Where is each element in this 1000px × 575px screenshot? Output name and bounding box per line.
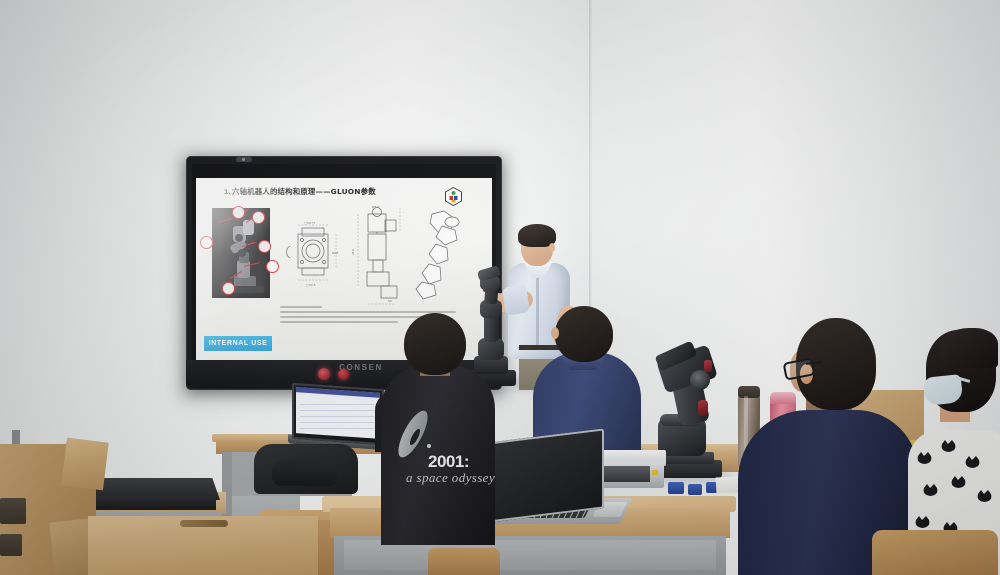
spreadsheet-row xyxy=(300,416,374,417)
slide-callout-1 xyxy=(200,236,213,249)
slide-callout-5 xyxy=(266,260,279,273)
webcam-lens-icon xyxy=(242,158,245,161)
svg-text:Ø8.5: Ø8.5 xyxy=(372,204,379,209)
presenter-right-sleeve xyxy=(502,284,530,315)
svg-text:50: 50 xyxy=(388,299,392,303)
cad-iso-view xyxy=(408,208,474,302)
box-handle-cutout xyxy=(180,520,228,527)
backpack-pocket xyxy=(272,460,338,486)
spreadsheet-row xyxy=(300,404,374,405)
blue-connector xyxy=(668,482,684,494)
status-led-left xyxy=(318,368,330,380)
spreadsheet-row xyxy=(300,428,374,429)
spreadsheet-row xyxy=(300,410,374,411)
controller-led xyxy=(652,470,658,475)
camera-rig-accent xyxy=(698,400,708,416)
presenter-ear xyxy=(549,243,555,252)
svg-text:□50 h7: □50 h7 xyxy=(304,221,316,225)
cardboard-box-flap xyxy=(61,438,109,491)
student-a-head xyxy=(404,313,466,375)
box-label xyxy=(0,534,22,556)
svg-text:□34.5: □34.5 xyxy=(306,283,316,287)
wooden-chair-right[interactable] xyxy=(872,530,998,575)
student-b-head xyxy=(555,306,613,362)
camera-accent xyxy=(704,360,712,372)
slide-callout-6 xyxy=(222,282,235,295)
classroom-scene: 1、 六轴机器人的结构和原理——GLUON参数 xyxy=(0,0,1000,575)
slide-callout-3 xyxy=(252,211,265,224)
tshirt-text-primary: 2001: xyxy=(428,452,486,471)
tshirt-graphic-dot xyxy=(427,444,431,448)
student-b-ear xyxy=(551,327,559,339)
student-d-hair-front xyxy=(940,328,998,368)
slide-title: 六轴机器人的结构和原理——GLUON参数 xyxy=(232,186,462,200)
spreadsheet-row xyxy=(300,422,374,423)
hexagon-badge-logo xyxy=(445,187,462,206)
slide-callout-2 xyxy=(232,206,245,219)
shirt-placket xyxy=(536,272,539,348)
box-label xyxy=(0,498,26,524)
thermos-cap xyxy=(738,386,760,398)
svg-text:Ø28: Ø28 xyxy=(332,250,338,255)
tshirt-text-secondary: a space odyssey xyxy=(406,470,502,486)
wooden-chair-center[interactable] xyxy=(428,548,500,575)
svg-text:210: 210 xyxy=(351,249,355,255)
monitor-panel-base xyxy=(96,496,216,510)
cad-top-view: □50 h7□34.5 Ø28 xyxy=(282,220,344,298)
internal-use-badge: INTERNAL USE xyxy=(204,336,272,351)
camera-lens-icon xyxy=(690,370,710,390)
cad-front-view: 210 Ø8.550 xyxy=(348,204,408,308)
slide-callout-4 xyxy=(258,240,271,253)
status-led-right xyxy=(338,369,349,380)
presenter-belt xyxy=(519,345,559,350)
pink-bottle-cap xyxy=(770,392,796,404)
blue-connector xyxy=(688,484,702,495)
